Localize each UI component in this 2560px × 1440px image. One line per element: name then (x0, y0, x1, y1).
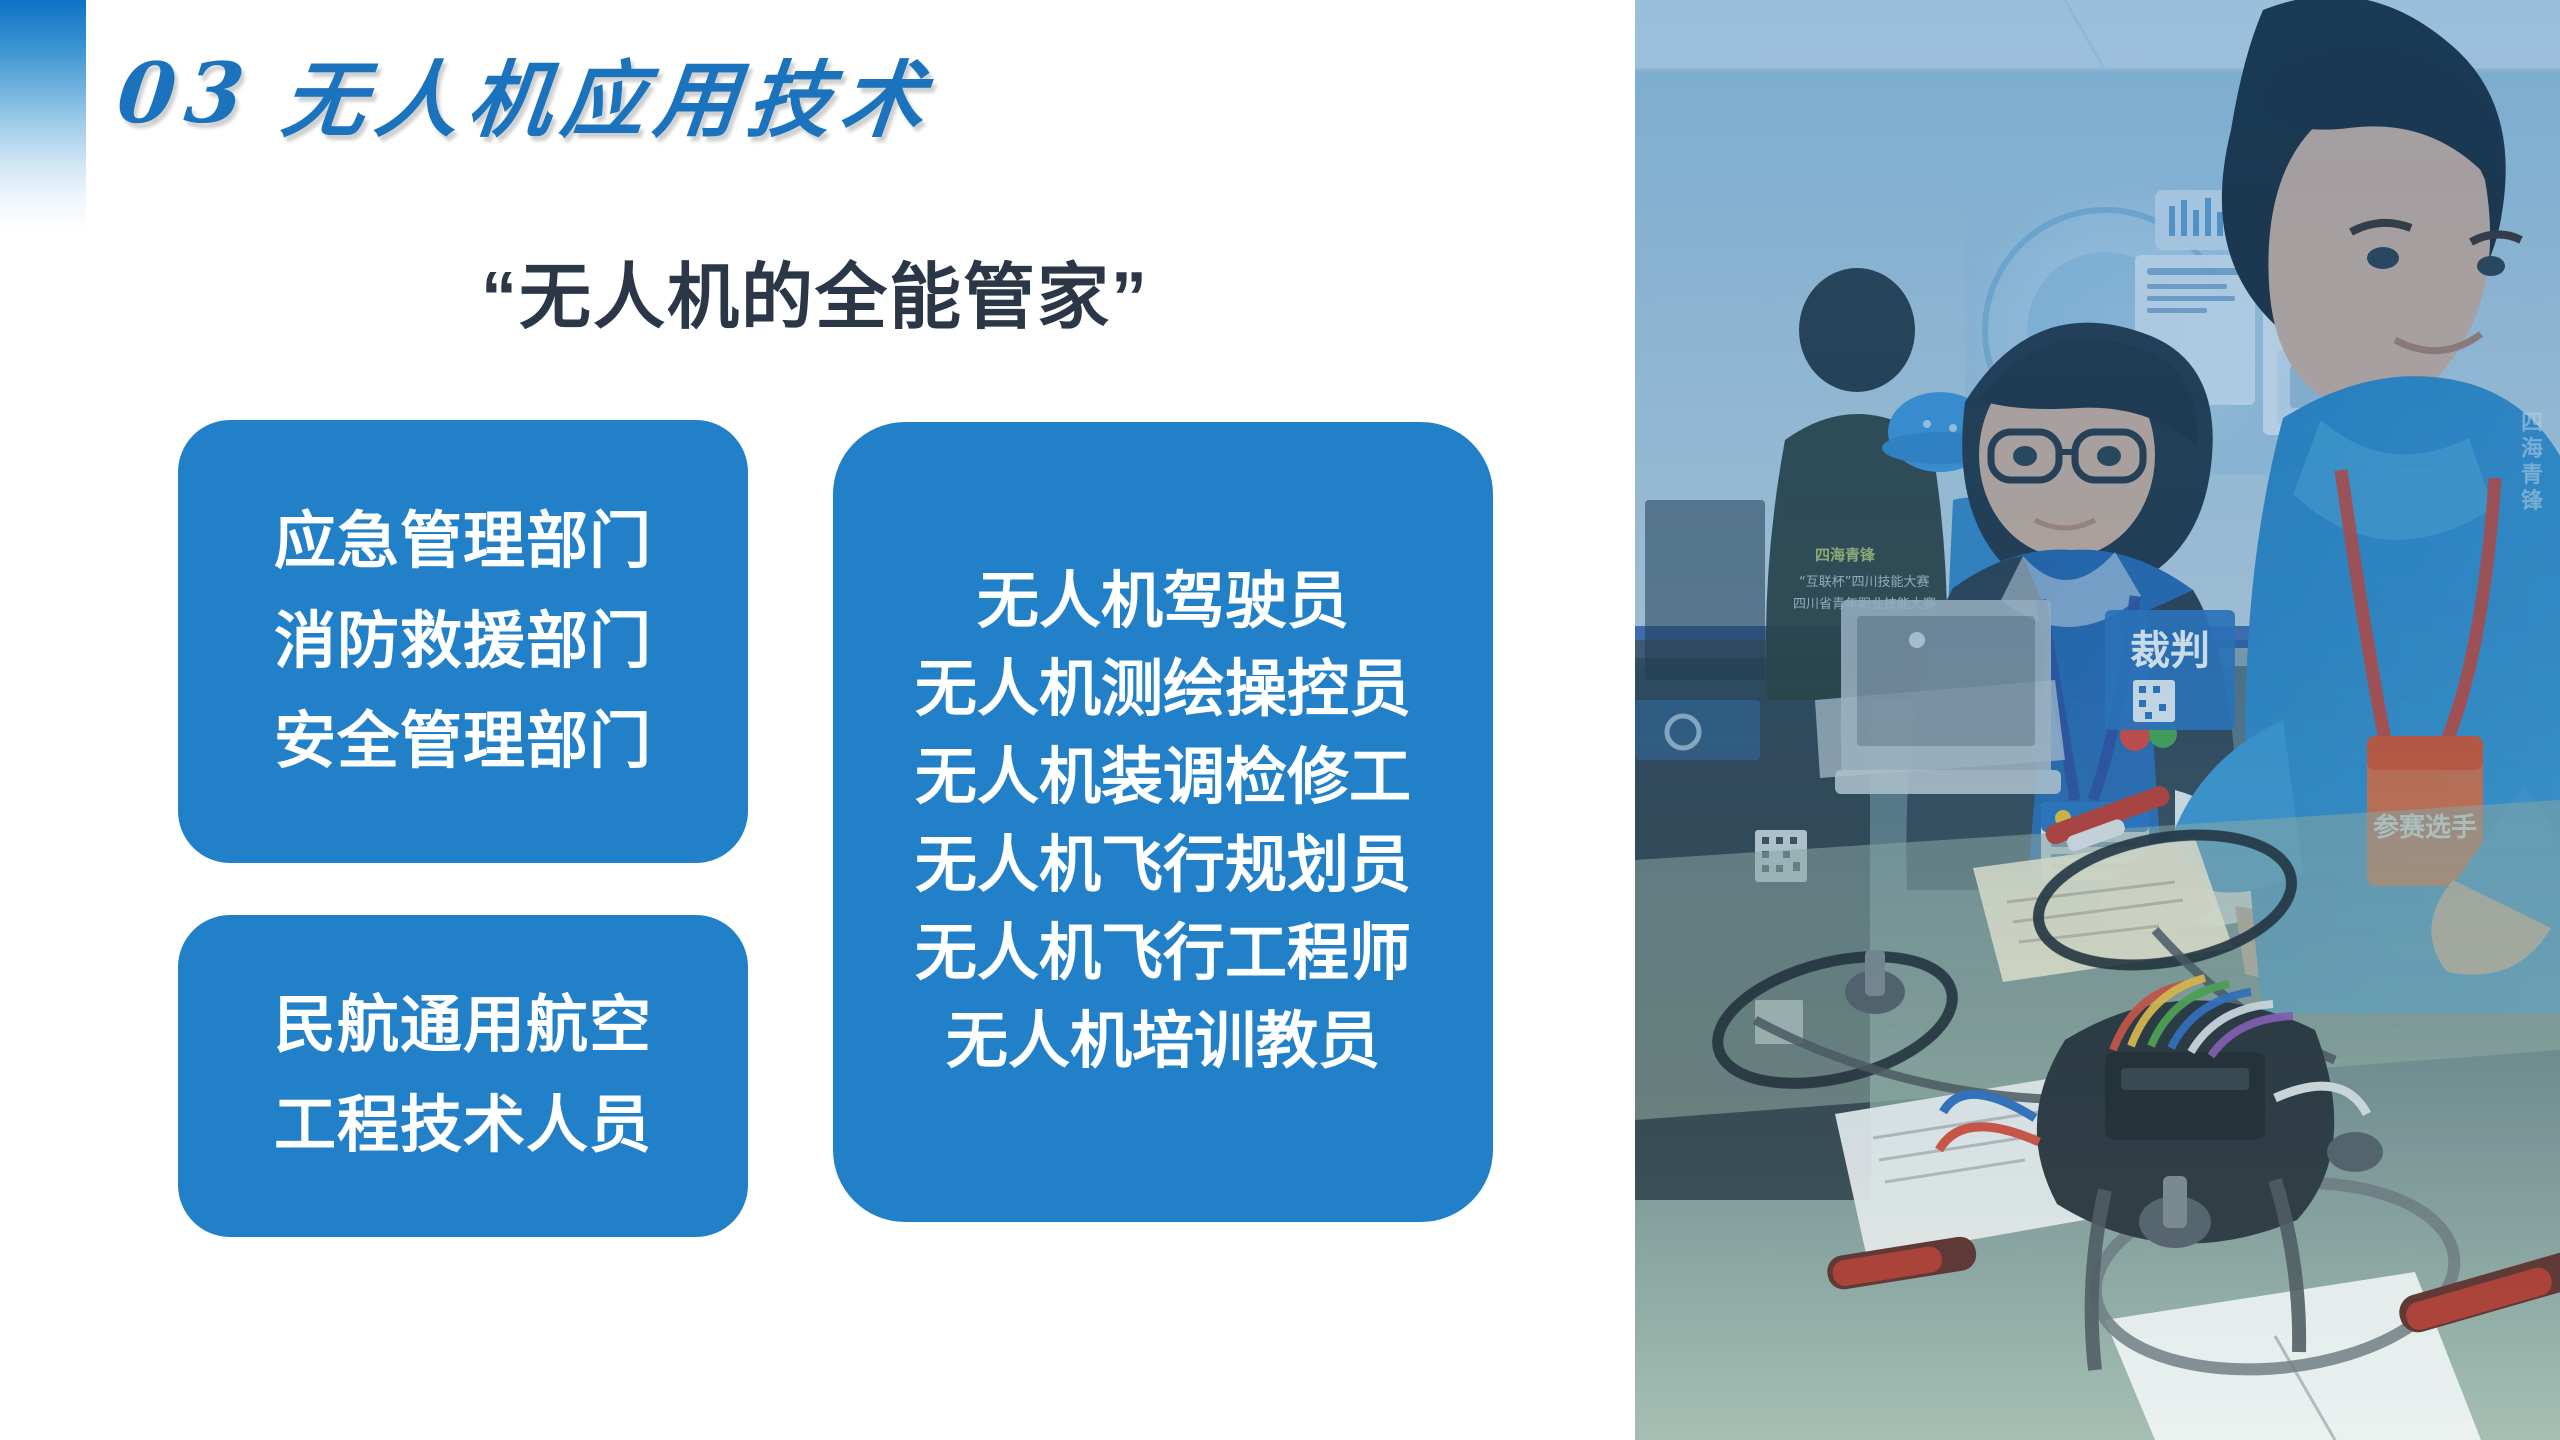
svg-text:锋: 锋 (2521, 488, 2544, 514)
accent-gradient-bar (0, 0, 86, 230)
list-item: 工程技术人员 (274, 1095, 652, 1157)
competition-photo: 四海青锋 “互联杯”四川技能大赛 四川省青年职业技能大赛 (1635, 0, 2560, 1440)
page-title: 03 无人机应用技术 (112, 38, 1224, 148)
svg-text:四海青锋: 四海青锋 (1815, 546, 1876, 564)
departments-box: 应急管理部门 消防救援部门 安全管理部门 (178, 420, 748, 863)
svg-text:裁判: 裁判 (2130, 628, 2210, 674)
title-text: 无人机应用技术 (277, 33, 941, 153)
list-item: 消防救援部门 (274, 611, 652, 673)
photo-illustration: 四海青锋 “互联杯”四川技能大赛 四川省青年职业技能大赛 (1635, 0, 2560, 1440)
list-item: 民航通用航空 (274, 995, 652, 1057)
occupations-box: 无人机驾驶员 无人机测绘操控员 无人机装调检修工 无人机飞行规划员 无人机飞行工… (833, 422, 1493, 1222)
list-item: 无人机飞行工程师 (915, 923, 1411, 985)
list-item: 无人机培训教员 (946, 1011, 1380, 1073)
svg-text:四: 四 (2521, 411, 2543, 436)
list-item: 无人机装调检修工 (915, 747, 1411, 809)
list-item: 无人机测绘操控员 (915, 659, 1411, 721)
svg-text:青: 青 (2521, 463, 2543, 488)
list-item: 应急管理部门 (274, 511, 652, 573)
svg-text:海: 海 (2521, 436, 2543, 462)
svg-text:“互联杯”四川技能大赛: “互联杯”四川技能大赛 (1799, 574, 1929, 590)
list-item: 无人机驾驶员 (977, 571, 1349, 633)
list-item: 无人机飞行规划员 (915, 835, 1411, 897)
list-item: 安全管理部门 (274, 711, 652, 773)
subtitle: “无人机的全能管家” (150, 238, 1480, 343)
title-number: 03 (113, 44, 259, 142)
civil-aviation-box: 民航通用航空 工程技术人员 (178, 915, 748, 1237)
